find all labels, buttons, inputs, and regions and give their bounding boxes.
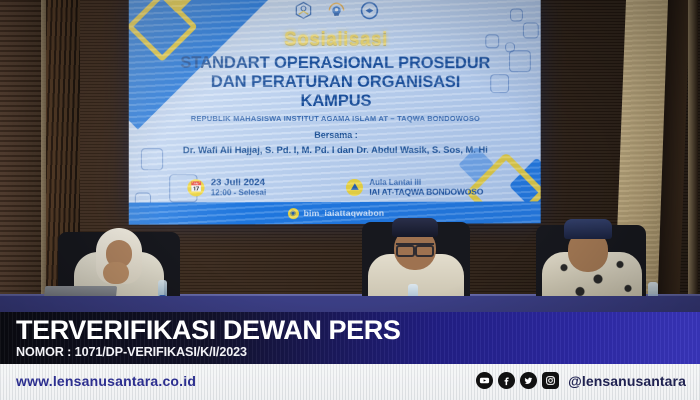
panelist-center-peci-cap bbox=[392, 218, 438, 237]
panelist-left-hands bbox=[103, 262, 129, 284]
projection-screen: Sosialisasi STANDART OPERASIONAL PROSEDU… bbox=[129, 0, 541, 225]
youtube-icon[interactable] bbox=[476, 372, 493, 389]
screenshot-root: Sosialisasi STANDART OPERASIONAL PROSEDU… bbox=[0, 0, 700, 400]
screen-glare bbox=[129, 0, 541, 225]
banner-nomor: NOMOR : 1071/DP-VERIFIKASI/K/I/2023 bbox=[16, 345, 247, 359]
instagram-icon[interactable] bbox=[542, 372, 559, 389]
verification-banner: TERVERIFIKASI DEWAN PERS NOMOR : 1071/DP… bbox=[0, 312, 700, 364]
panelist-center-glasses bbox=[396, 243, 434, 253]
twitter-icon[interactable] bbox=[520, 372, 537, 389]
wood-panel-right-trim bbox=[688, 0, 698, 330]
footer-bar: www.lensanusantara.co.id @lensanusantara bbox=[0, 364, 700, 400]
wood-panel-left bbox=[0, 0, 42, 330]
social-handle[interactable]: @lensanusantara bbox=[568, 373, 686, 389]
facebook-icon[interactable] bbox=[498, 372, 515, 389]
social-links: @lensanusantara bbox=[476, 372, 686, 389]
panelist-right-peci-cap bbox=[564, 219, 612, 239]
banner-title: TERVERIFIKASI DEWAN PERS bbox=[16, 315, 400, 346]
website-url[interactable]: www.lensanusantara.co.id bbox=[16, 373, 196, 389]
